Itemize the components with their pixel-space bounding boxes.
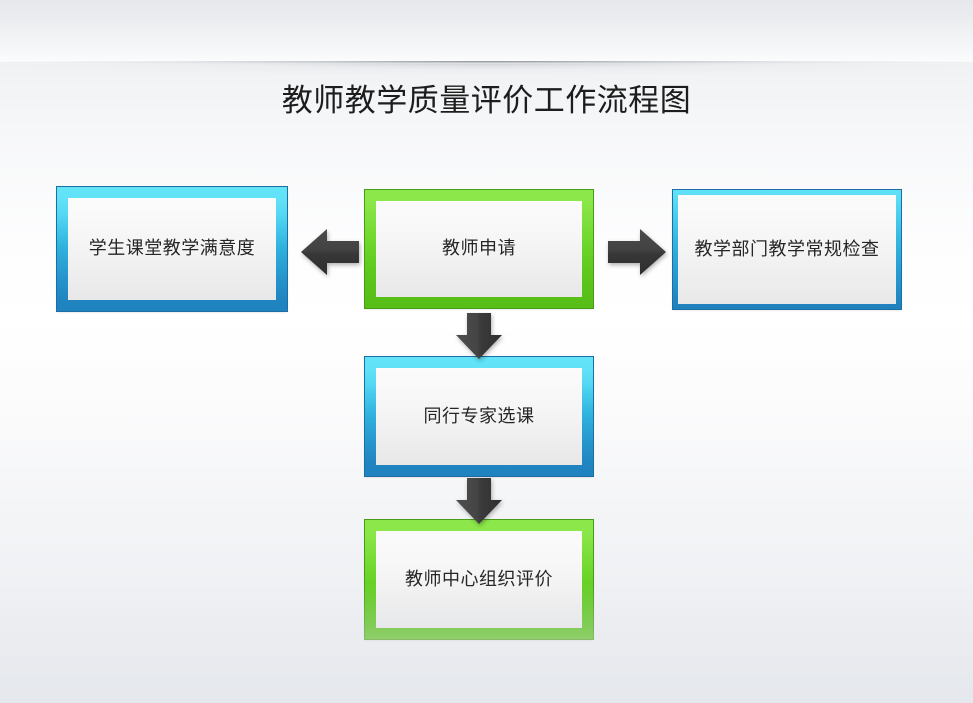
flow-node-student-satisfaction[interactable]: 学生课堂教学满意度 [57, 187, 287, 311]
flow-node-teacher-application[interactable]: 教师申请 [365, 190, 593, 308]
slide-canvas: 教师教学质量评价工作流程图 学生课堂教学满意度 教师申请 教学部门教学常规检查 … [0, 0, 973, 703]
flow-node-peer-expert-course-selection[interactable]: 同行专家选课 [365, 357, 593, 476]
flow-node-label: 教学部门教学常规检查 [695, 237, 880, 263]
arrow-right-icon [607, 226, 667, 278]
arrow-down-icon [453, 312, 505, 360]
flow-node-label: 教师中心组织评价 [405, 567, 553, 593]
flow-node-label: 教师申请 [442, 236, 516, 262]
flow-node-label: 学生课堂教学满意度 [89, 236, 256, 262]
slide-header-band [0, 0, 973, 62]
arrow-down-icon [453, 477, 505, 525]
page-title: 教师教学质量评价工作流程图 [0, 80, 973, 122]
slide-header-divider-glow [0, 64, 973, 76]
flow-node-teacher-center-evaluation[interactable]: 教师中心组织评价 [365, 520, 593, 639]
arrow-left-icon [300, 226, 360, 278]
flow-node-dept-routine-inspection[interactable]: 教学部门教学常规检查 [673, 190, 901, 309]
flow-node-label: 同行专家选课 [424, 404, 535, 430]
